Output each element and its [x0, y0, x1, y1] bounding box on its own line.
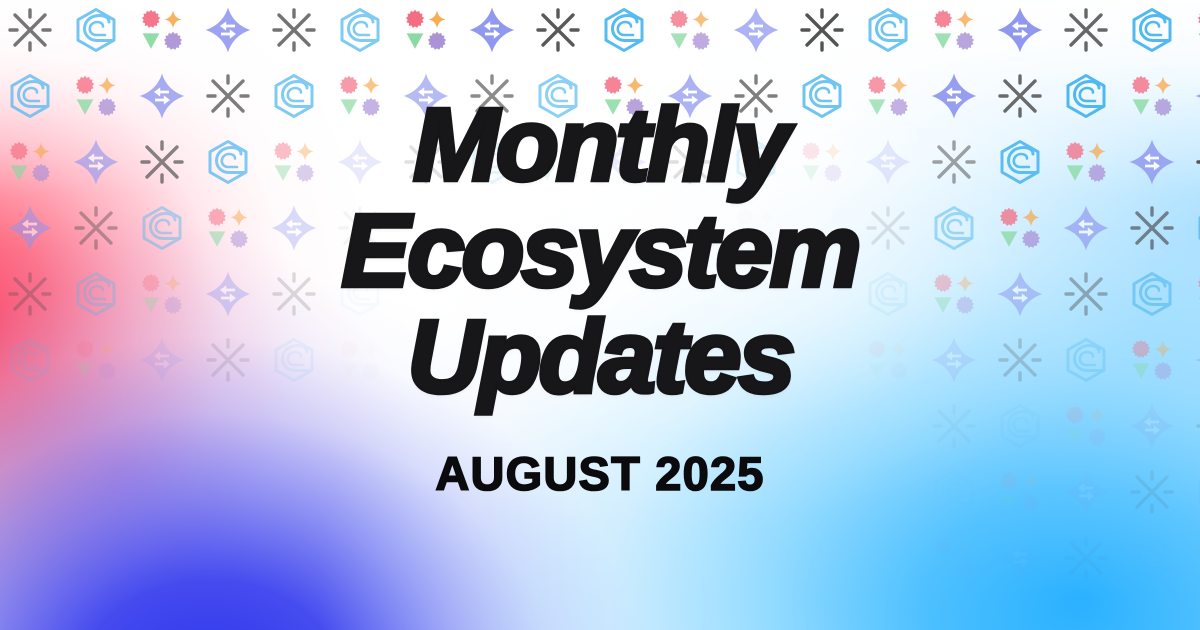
asterisk-burst-icon: [1062, 6, 1110, 54]
four-shapes-icon: [402, 6, 450, 54]
diamond-arrow-icon: [468, 6, 516, 54]
asterisk-burst-icon: [6, 6, 54, 54]
four-shapes-icon: [138, 6, 186, 54]
diamond-arrow-icon: [996, 6, 1044, 54]
hexagon-spiral-icon: [336, 6, 384, 54]
four-shapes-icon: [1194, 6, 1200, 54]
four-shapes-icon: [666, 6, 714, 54]
hexagon-spiral-icon: [72, 6, 120, 54]
hexagon-spiral-icon: [1128, 534, 1176, 582]
asterisk-burst-icon: [534, 6, 582, 54]
four-shapes-icon: [1194, 534, 1200, 582]
headline-line-3: Updates: [0, 308, 1200, 406]
four-shapes-icon: [930, 534, 978, 582]
asterisk-burst-icon: [270, 6, 318, 54]
four-shapes-icon: [930, 6, 978, 54]
hexagon-spiral-icon: [1128, 6, 1176, 54]
diamond-arrow-icon: [204, 6, 252, 54]
diamond-arrow-icon: [996, 534, 1044, 582]
asterisk-burst-icon: [1062, 534, 1110, 582]
asterisk-burst-icon: [798, 6, 846, 54]
headline-line-1: Monthly: [0, 96, 1200, 194]
diamond-arrow-icon: [732, 6, 780, 54]
banner-subtitle: AUGUST 2025: [0, 446, 1200, 501]
headline-line-2: Ecosystem: [0, 202, 1200, 300]
hexagon-spiral-icon: [600, 6, 648, 54]
hexagon-spiral-icon: [864, 6, 912, 54]
ecosystem-updates-banner: Monthly Ecosystem Updates AUGUST 2025: [0, 0, 1200, 630]
banner-text-block: Monthly Ecosystem Updates AUGUST 2025: [0, 96, 1200, 501]
